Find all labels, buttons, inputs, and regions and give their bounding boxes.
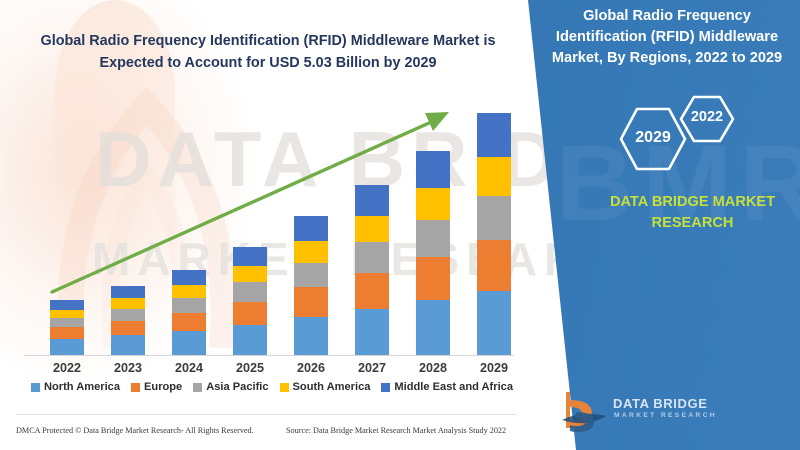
legend-label: Asia Pacific [206,381,268,393]
bar-segment-middle-east-and-africa-2027 [355,185,389,215]
bar-segment-south-america-2026 [294,241,328,262]
bar-segment-south-america-2022 [50,310,84,318]
right-panel-title: Global Radio Frequency Identification (R… [536,6,798,69]
x-axis-label-2025: 2025 [215,361,285,375]
footer-copyright: DMCA Protected © Data Bridge Market Rese… [16,426,254,435]
bar-segment-asia-pacific-2022 [50,318,84,328]
bar-segment-middle-east-and-africa-2024 [172,270,206,285]
bar-segment-asia-pacific-2029 [477,196,511,240]
bar-2022 [50,300,84,355]
legend-item-asia-pacific[interactable]: Asia Pacific [193,381,268,393]
legend-label: South America [293,381,371,393]
bar-2023 [111,286,145,355]
bar-2025 [233,247,267,356]
x-axis-label-2027: 2027 [337,361,407,375]
logo-name: DATA BRIDGE [613,396,707,411]
bar-2024 [172,270,206,355]
bar-segment-middle-east-and-africa-2029 [477,113,511,157]
hexagon-group: 2029 2022 [590,95,790,190]
legend-label: Europe [144,381,182,393]
footer-divider [16,414,516,415]
legend-swatch-icon [193,383,202,392]
legend-label: Middle East and Africa [394,381,513,393]
bar-segment-asia-pacific-2023 [111,309,145,321]
x-axis-label-2028: 2028 [398,361,468,375]
bar-segment-asia-pacific-2026 [294,263,328,288]
bar-2028 [416,151,450,355]
bar-segment-south-america-2028 [416,188,450,220]
hexagon-2022-label: 2022 [681,109,733,125]
bar-segment-north-america-2025 [233,325,267,355]
legend-item-middle-east-and-africa[interactable]: Middle East and Africa [381,381,513,393]
chart-legend: North AmericaEuropeAsia PacificSouth Ame… [22,381,522,393]
infographic-canvas: DATA BRIDGE MARKET RESEARCH DBMR Global … [0,0,800,450]
bar-2029 [477,113,511,355]
bar-segment-middle-east-and-africa-2028 [416,151,450,188]
brand-line-2: RESEARCH [590,213,795,234]
brand-line-1: DATA BRIDGE MARKET [590,192,795,213]
legend-swatch-icon [381,383,390,392]
bar-segment-asia-pacific-2024 [172,298,206,313]
bar-segment-asia-pacific-2028 [416,220,450,257]
bar-segment-europe-2028 [416,257,450,300]
legend-swatch-icon [31,383,40,392]
bar-segment-north-america-2029 [477,291,511,355]
bar-segment-north-america-2023 [111,335,145,355]
bar-segment-europe-2023 [111,321,145,335]
x-axis-label-2026: 2026 [276,361,346,375]
logo-subtitle: MARKET RESEARCH [614,412,717,419]
x-axis-label-2024: 2024 [154,361,224,375]
bar-segment-south-america-2025 [233,266,267,283]
hexagon-2029-label: 2029 [621,129,685,147]
bar-segment-europe-2027 [355,273,389,309]
bar-segment-europe-2029 [477,240,511,291]
bar-segment-south-america-2023 [111,298,145,309]
x-axis-label-2022: 2022 [32,361,102,375]
bar-segment-south-america-2029 [477,157,511,195]
bar-segment-north-america-2022 [50,339,84,355]
bar-2026 [294,216,328,355]
bar-segment-middle-east-and-africa-2022 [50,300,84,310]
legend-label: North America [44,381,120,393]
x-axis-label-2023: 2023 [93,361,163,375]
bar-segment-europe-2025 [233,302,267,325]
bar-segment-europe-2024 [172,313,206,331]
bar-segment-south-america-2024 [172,285,206,298]
bar-segment-north-america-2027 [355,309,389,355]
bar-segment-asia-pacific-2025 [233,282,267,301]
chart-baseline [24,355,514,356]
bar-segment-north-america-2024 [172,331,206,355]
legend-swatch-icon [131,383,140,392]
footer-source: Source: Data Bridge Market Research Mark… [286,426,506,435]
bar-segment-europe-2026 [294,287,328,316]
bar-segment-middle-east-and-africa-2023 [111,286,145,298]
bar-segment-middle-east-and-africa-2026 [294,216,328,241]
x-axis-label-2029: 2029 [459,361,529,375]
brand-name: DATA BRIDGE MARKET RESEARCH [590,192,795,233]
legend-item-europe[interactable]: Europe [131,381,182,393]
bar-segment-asia-pacific-2027 [355,242,389,272]
bar-segment-middle-east-and-africa-2025 [233,247,267,266]
legend-item-north-america[interactable]: North America [31,381,120,393]
legend-swatch-icon [280,383,289,392]
bar-segment-south-america-2027 [355,216,389,243]
bar-segment-north-america-2026 [294,317,328,355]
bar-segment-europe-2022 [50,327,84,339]
bar-segment-north-america-2028 [416,300,450,355]
bar-2027 [355,185,389,355]
legend-item-south-america[interactable]: South America [280,381,371,393]
